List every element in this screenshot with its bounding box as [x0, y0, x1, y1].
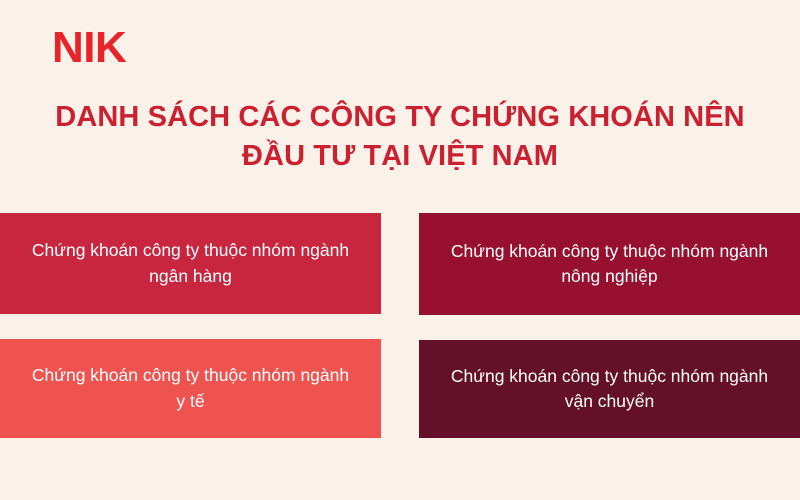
category-card-transport[interactable]: Chứng khoán công ty thuộc nhóm ngành vận… — [419, 340, 800, 438]
category-card-banking[interactable]: Chứng khoán công ty thuộc nhóm ngành ngâ… — [0, 213, 381, 314]
poster-canvas: NIK DANH SÁCH CÁC CÔNG TY CHỨNG KHOÁN NÊ… — [0, 0, 800, 500]
brand-logo: NIK — [52, 26, 126, 70]
category-card-label: Chứng khoán công ty thuộc nhóm ngành vận… — [445, 364, 775, 415]
page-title-line-2: ĐẦU TƯ TẠI VIỆT NAM — [18, 137, 782, 176]
category-card-grid: Chứng khoán công ty thuộc nhóm ngành ngâ… — [0, 213, 800, 438]
category-card-healthcare[interactable]: Chứng khoán công ty thuộc nhóm ngành y t… — [0, 339, 381, 438]
category-card-agriculture[interactable]: Chứng khoán công ty thuộc nhóm ngành nôn… — [419, 213, 800, 315]
page-title: DANH SÁCH CÁC CÔNG TY CHỨNG KHOÁN NÊN ĐẦ… — [0, 98, 800, 175]
page-title-line-1: DANH SÁCH CÁC CÔNG TY CHỨNG KHOÁN NÊN — [18, 98, 782, 137]
category-card-label: Chứng khoán công ty thuộc nhóm ngành nôn… — [445, 239, 775, 290]
category-card-label: Chứng khoán công ty thuộc nhóm ngành ngâ… — [26, 238, 356, 289]
category-card-label: Chứng khoán công ty thuộc nhóm ngành y t… — [26, 363, 356, 414]
